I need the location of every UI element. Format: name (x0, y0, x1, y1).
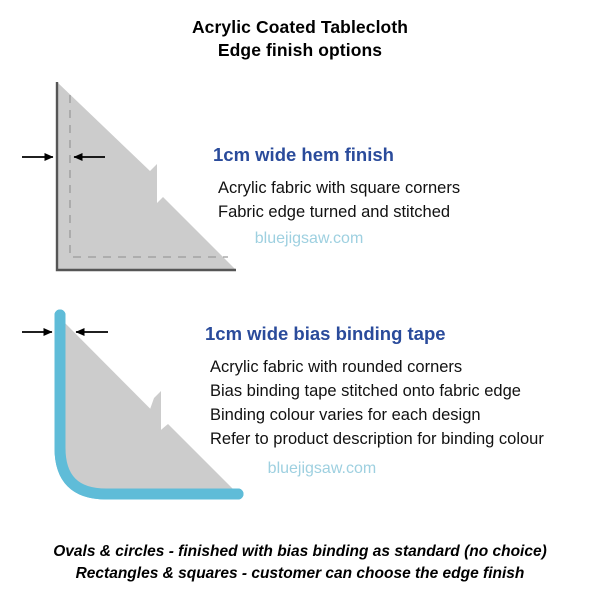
bias-binding-line-4: Refer to product description for binding… (210, 427, 544, 451)
diagram-canvas: Acrylic Coated Tablecloth Edge finish op… (0, 0, 600, 600)
fabric-edge-line-square (57, 82, 236, 270)
footer-line-1: Ovals & circles - finished with bias bin… (0, 541, 600, 563)
edge-finish-illustrations (0, 0, 600, 600)
hem-finish-text-block: 1cm wide hem finish Acrylic fabric with … (213, 143, 460, 251)
hem-diagram-group (22, 82, 236, 270)
footer-line-2: Rectangles & squares - customer can choo… (0, 563, 600, 585)
title-line-1: Acrylic Coated Tablecloth (0, 16, 600, 39)
hem-finish-heading: 1cm wide hem finish (213, 143, 460, 167)
fabric-body-square-corner (57, 82, 236, 270)
bias-binding-description: Acrylic fabric with rounded corners Bias… (210, 355, 544, 481)
bias-binding-text-block: 1cm wide bias binding tape Acrylic fabri… (205, 322, 544, 481)
bias-binding-line-1: Acrylic fabric with rounded corners (210, 355, 544, 379)
bias-binding-line-2: Bias binding tape stitched onto fabric e… (210, 379, 544, 403)
page-title: Acrylic Coated Tablecloth Edge finish op… (0, 16, 600, 62)
brand-label-bias: bluejigsaw.com (210, 457, 544, 481)
hem-finish-description: Acrylic fabric with square corners Fabri… (218, 176, 460, 251)
brand-label-hem: bluejigsaw.com (218, 227, 460, 251)
title-line-2: Edge finish options (0, 39, 600, 62)
bias-binding-heading: 1cm wide bias binding tape (205, 322, 544, 346)
hem-finish-line-1: Acrylic fabric with square corners (218, 176, 460, 200)
hem-finish-line-2: Fabric edge turned and stitched (218, 200, 460, 224)
footer-note: Ovals & circles - finished with bias bin… (0, 541, 600, 585)
stitch-line-dashed-square (70, 95, 228, 257)
bias-binding-line-3: Binding colour varies for each design (210, 403, 544, 427)
